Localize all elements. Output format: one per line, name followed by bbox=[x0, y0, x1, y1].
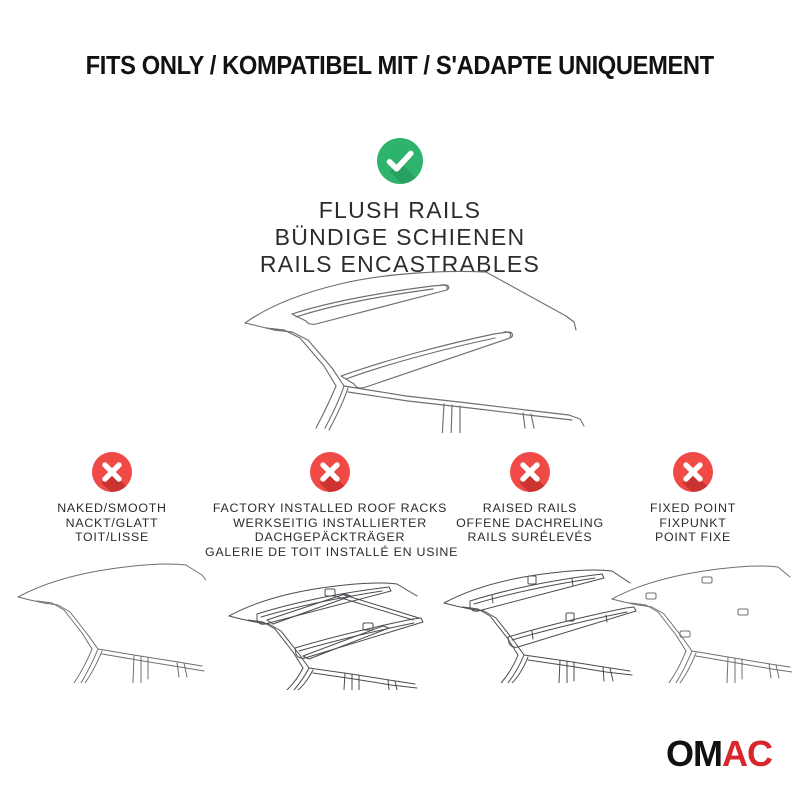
label-line-3: POINT FIXE bbox=[608, 530, 778, 545]
incompatible-item-factory-rack: FACTORY INSTALLED ROOF RACKS WERKSEITIG … bbox=[205, 452, 455, 690]
incompatible-labels: NAKED/SMOOTH NACKT/GLATT TOIT/LISSE bbox=[12, 501, 212, 545]
compatible-label-en: FLUSH RAILS bbox=[0, 197, 800, 224]
label-line-1: FIXED POINT bbox=[608, 501, 778, 516]
x-circle-icon bbox=[310, 452, 350, 492]
car-roof-naked-illustration bbox=[12, 553, 212, 683]
car-roof-fixed-point-illustration bbox=[608, 553, 778, 683]
compatible-section: FLUSH RAILS BÜNDIGE SCHIENEN RAILS ENCAS… bbox=[0, 138, 800, 278]
compatible-labels: FLUSH RAILS BÜNDIGE SCHIENEN RAILS ENCAS… bbox=[0, 197, 800, 278]
omac-logo: OM AC bbox=[666, 736, 772, 772]
incompatible-labels: FIXED POINT FIXPUNKT POINT FIXE bbox=[608, 501, 778, 545]
logo-text-dark: OM bbox=[666, 736, 722, 772]
compatible-label-de: BÜNDIGE SCHIENEN bbox=[0, 224, 800, 251]
page-title: FITS ONLY / KOMPATIBEL MIT / S'ADAPTE UN… bbox=[86, 52, 714, 81]
x-circle-icon bbox=[510, 452, 550, 492]
label-line-3: RAILS SURÉLEVÉS bbox=[440, 530, 620, 545]
label-line-1: RAISED RAILS bbox=[440, 501, 620, 516]
label-line-2: NACKT/GLATT bbox=[12, 516, 212, 531]
x-circle-icon bbox=[673, 452, 713, 492]
label-line-2: WERKSEITIG INSTALLIERTER bbox=[205, 516, 455, 531]
incompatible-labels: RAISED RAILS OFFENE DACHRELING RAILS SUR… bbox=[440, 501, 620, 545]
label-line-2: FIXPUNKT bbox=[608, 516, 778, 531]
car-roof-factory-rack-illustration bbox=[205, 560, 455, 690]
label-line-3: DACHGEPÄCKTRÄGER bbox=[205, 530, 455, 545]
incompatible-labels: FACTORY INSTALLED ROOF RACKS WERKSEITIG … bbox=[205, 501, 455, 559]
header-banner: FITS ONLY / KOMPATIBEL MIT / S'ADAPTE UN… bbox=[0, 52, 800, 81]
label-line-1: NAKED/SMOOTH bbox=[12, 501, 212, 516]
car-roof-raised-rails-illustration bbox=[440, 553, 620, 683]
label-line-3: TOIT/LISSE bbox=[12, 530, 212, 545]
car-roof-flush-rails-illustration bbox=[236, 268, 586, 433]
x-circle-icon bbox=[92, 452, 132, 492]
incompatible-section: NAKED/SMOOTH NACKT/GLATT TOIT/LISSE bbox=[0, 452, 800, 692]
incompatible-item-fixed-point: FIXED POINT FIXPUNKT POINT FIXE bbox=[608, 452, 778, 683]
label-line-4: GALERIE DE TOIT INSTALLÉ EN USINE bbox=[205, 545, 455, 560]
incompatible-item-naked-smooth: NAKED/SMOOTH NACKT/GLATT TOIT/LISSE bbox=[12, 452, 212, 683]
label-line-2: OFFENE DACHRELING bbox=[440, 516, 620, 531]
logo-text-red: AC bbox=[722, 736, 772, 772]
label-line-1: FACTORY INSTALLED ROOF RACKS bbox=[205, 501, 455, 516]
check-circle-icon bbox=[377, 138, 423, 184]
incompatible-item-raised-rails: RAISED RAILS OFFENE DACHRELING RAILS SUR… bbox=[440, 452, 620, 683]
